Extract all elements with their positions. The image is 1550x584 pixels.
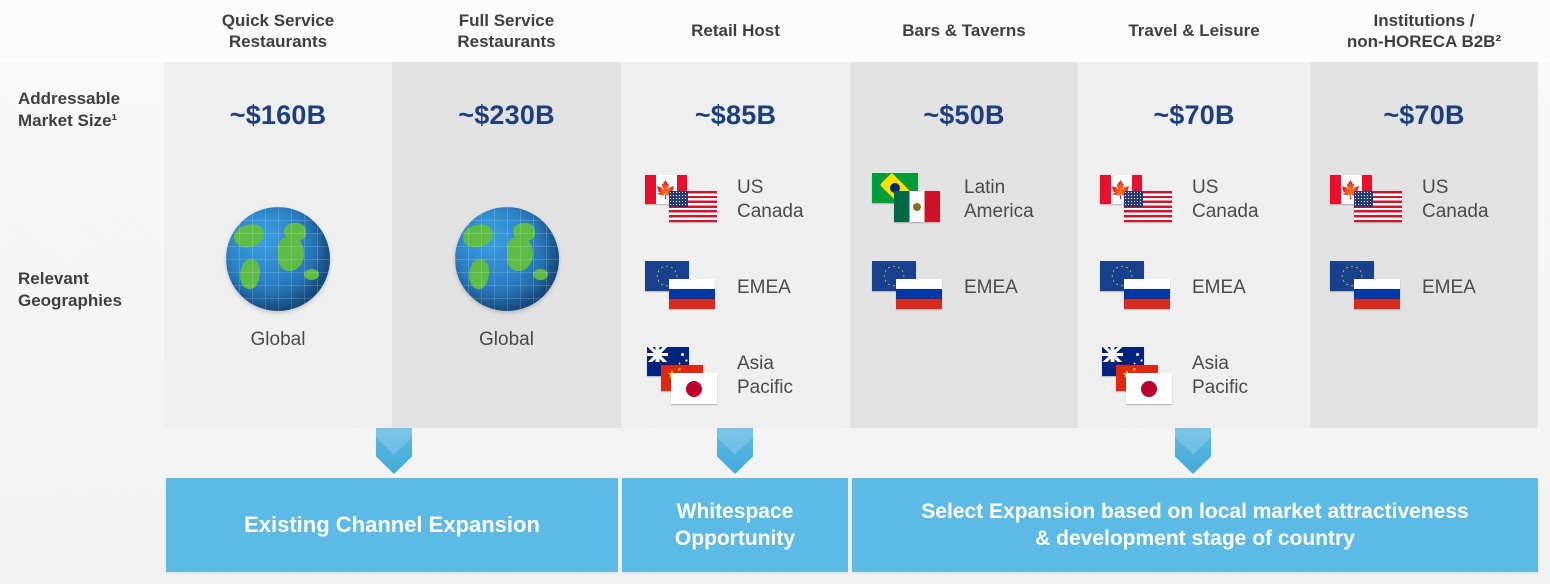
geography-label: EMEA	[1192, 276, 1246, 300]
connector-arrow-whitespace	[717, 428, 753, 474]
callout-existing-channel-expansion[interactable]: Existing Channel Expansion	[166, 478, 618, 572]
geography-label: Latin America	[964, 176, 1034, 224]
geography-item: ★★ Asia Pacific	[1100, 344, 1259, 408]
connector-arrow-select-expansion	[1175, 428, 1211, 474]
us-canada-flags-icon: 🍁	[1100, 171, 1178, 229]
market-size-institutions: ~$70B	[1310, 96, 1538, 134]
geography-label: US Canada	[737, 176, 804, 224]
geography-globe-quick-service: Global	[164, 207, 392, 351]
geography-item: EMEA	[1330, 256, 1489, 320]
geography-list-travel-leisure: 🍁 US Canada EMEA ★★ Asia Pacific	[1100, 168, 1259, 408]
market-size-quick-service: ~$160B	[164, 96, 392, 134]
globe-icon	[455, 207, 559, 311]
geography-label: US Canada	[1192, 176, 1259, 224]
column-header-bars-taverns: Bars & Taverns	[850, 0, 1078, 62]
market-size-travel-leisure: ~$70B	[1078, 96, 1310, 134]
geography-item: EMEA	[872, 256, 1034, 320]
column-header-retail-host: Retail Host	[621, 0, 850, 62]
asia-pacific-flags-icon: ★★	[645, 347, 723, 405]
geography-label: US Canada	[1422, 176, 1489, 224]
column-header-travel-leisure: Travel & Leisure	[1078, 0, 1310, 62]
geography-globe-full-service: Global	[392, 207, 621, 351]
eu-russia-flags-icon	[1330, 259, 1408, 317]
brazil-mexico-flags-icon	[872, 171, 950, 229]
column-header-quick-service: Quick Service Restaurants	[164, 0, 392, 62]
globe-icon	[226, 207, 330, 311]
callout-whitespace-opportunity[interactable]: Whitespace Opportunity	[622, 478, 848, 572]
column-header-institutions: Institutions / non-HORECA B2B²	[1310, 0, 1538, 62]
geography-label: EMEA	[1422, 276, 1476, 300]
us-canada-flags-icon: 🍁	[1330, 171, 1408, 229]
geography-item: EMEA	[645, 256, 804, 320]
geography-item: EMEA	[1100, 256, 1259, 320]
geography-item: 🍁 US Canada	[1100, 168, 1259, 232]
geography-list-retail-host: 🍁 US Canada EMEA ★★ Asia Pacific	[645, 168, 804, 408]
market-size-bars-taverns: ~$50B	[850, 96, 1078, 134]
geography-list-institutions: 🍁 US Canada EMEA	[1330, 168, 1489, 320]
geography-label: Asia Pacific	[1192, 352, 1248, 400]
asia-pacific-flags-icon: ★★	[1100, 347, 1178, 405]
row-label-relevant-geographies: Relevant Geographies	[18, 268, 122, 312]
callout-select-expansion[interactable]: Select Expansion based on local market a…	[852, 478, 1538, 572]
geography-label: Asia Pacific	[737, 352, 793, 400]
market-opportunity-slide: Quick Service Restaurants Full Service R…	[0, 0, 1550, 584]
market-size-full-service: ~$230B	[392, 96, 621, 134]
geography-label: EMEA	[964, 276, 1018, 300]
geography-item: 🍁 US Canada	[645, 168, 804, 232]
geography-item: ★★ Asia Pacific	[645, 344, 804, 408]
globe-label-full-service: Global	[479, 329, 534, 351]
connector-arrow-existing-channel	[376, 428, 412, 474]
geography-item: 🍁 US Canada	[1330, 168, 1489, 232]
eu-russia-flags-icon	[645, 259, 723, 317]
eu-russia-flags-icon	[1100, 259, 1178, 317]
us-canada-flags-icon: 🍁	[645, 171, 723, 229]
globe-label-quick-service: Global	[251, 329, 306, 351]
geography-item: Latin America	[872, 168, 1034, 232]
column-header-full-service: Full Service Restaurants	[392, 0, 621, 62]
geography-label: EMEA	[737, 276, 791, 300]
eu-russia-flags-icon	[872, 259, 950, 317]
market-size-retail-host: ~$85B	[621, 96, 850, 134]
row-label-addressable-market-size: Addressable Market Size¹	[18, 88, 120, 132]
geography-list-bars-taverns: Latin America EMEA	[872, 168, 1034, 320]
